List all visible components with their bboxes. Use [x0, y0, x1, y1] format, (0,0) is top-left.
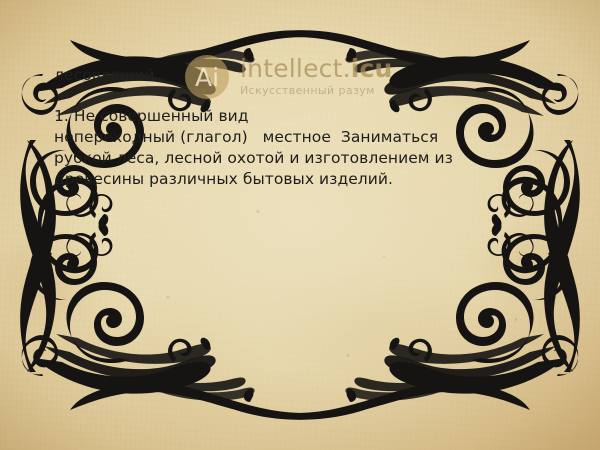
dictionary-entry: лесовавший 1. Не совершенный вид неперех… — [0, 0, 600, 450]
parchment-card: Ai intellect.icu Искусственный разум лес… — [0, 0, 600, 450]
entry-headword: лесовавший — [54, 66, 155, 84]
entry-definition: 1. Не совершенный вид непереходный (глаг… — [54, 106, 506, 190]
